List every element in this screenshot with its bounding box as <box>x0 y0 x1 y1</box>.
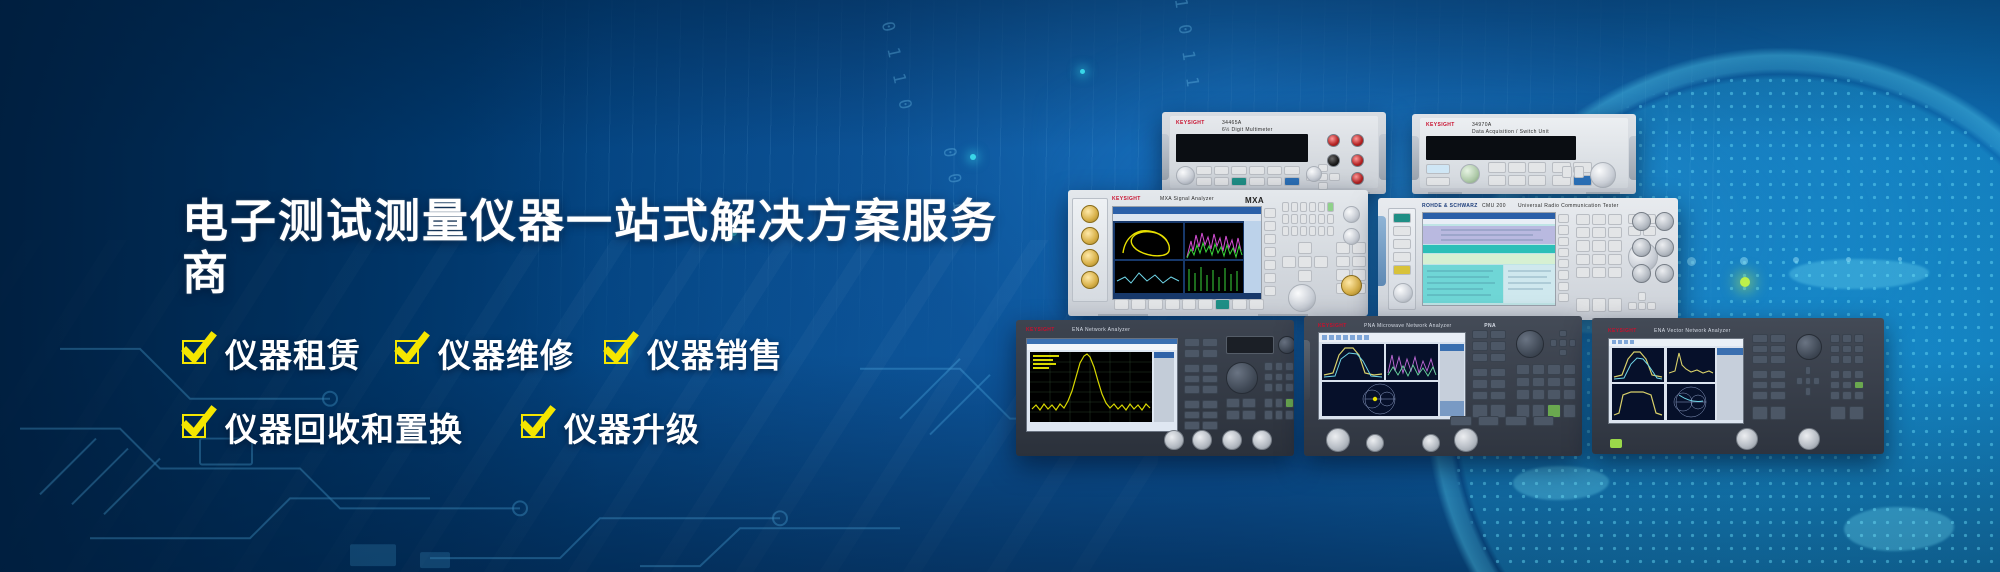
instrument-dmm-right: KEYSIGHT 34970A Data Acquisition / Switc… <box>1412 114 1636 194</box>
instrument-cluster: KEYSIGHT 34465A 6½ Digit Multimeter <box>1016 112 1916 512</box>
service-item-repair[interactable]: 仪器维修 <box>395 329 574 377</box>
model-label: 34465A <box>1222 120 1242 126</box>
model-label: 34970A <box>1472 122 1492 128</box>
model-desc: ENA Network Analyzer <box>1072 327 1130 333</box>
checkbox-checked-icon <box>604 338 634 368</box>
service-label: 仪器回收和置换 <box>225 403 463 451</box>
instrument-mxa: KEYSIGHT MXA Signal Analyzer MXA <box>1068 190 1368 316</box>
instrument-pna: KEYSIGHT PNA Microwave Network Analyzer … <box>1304 316 1582 456</box>
service-row: 仪器租赁 仪器维修 仪器销售 <box>182 329 1002 377</box>
brand-label: KEYSIGHT <box>1112 196 1141 202</box>
instrument-ena-left: KEYSIGHT ENA Network Analyzer <box>1016 320 1294 456</box>
model-desc: Data Acquisition / Switch Unit <box>1472 129 1549 135</box>
model-desc: MXA Signal Analyzer <box>1160 196 1214 202</box>
service-label: 仪器升级 <box>564 403 700 451</box>
brand-label: KEYSIGHT <box>1026 327 1055 333</box>
model-desc: 6½ Digit Multimeter <box>1222 127 1273 133</box>
checkbox-checked-icon <box>395 338 425 368</box>
model-badge: PNA <box>1484 323 1496 329</box>
instrument-cmu: ROHDE & SCHWARZ CMU 200 Universal Radio … <box>1378 198 1678 320</box>
brand-label: KEYSIGHT <box>1608 328 1637 334</box>
service-item-recycle[interactable]: 仪器回收和置换 <box>182 403 463 451</box>
brand-label: ROHDE & SCHWARZ <box>1422 203 1478 209</box>
service-label: 仪器租赁 <box>225 329 361 377</box>
brand-label: KEYSIGHT <box>1318 323 1347 329</box>
service-label: 仪器维修 <box>438 329 574 377</box>
brand-label: KEYSIGHT <box>1426 122 1455 128</box>
model-label: CMU 200 <box>1482 203 1506 209</box>
model-desc: ENA Vector Network Analyzer <box>1654 328 1731 334</box>
service-item-sales[interactable]: 仪器销售 <box>604 329 783 377</box>
page-title: 电子测试测量仪器一站式解决方案服务商 <box>182 196 1002 299</box>
model-desc: Universal Radio Communication Tester <box>1518 203 1619 209</box>
brand-label: KEYSIGHT <box>1176 120 1205 126</box>
service-label: 仪器销售 <box>647 329 783 377</box>
model-desc: PNA Microwave Network Analyzer <box>1364 323 1452 329</box>
checkbox-checked-icon <box>521 412 551 442</box>
banner-copy: 电子测试测量仪器一站式解决方案服务商 仪器租赁 仪器维修 <box>182 196 1002 477</box>
service-row: 仪器回收和置换 仪器升级 <box>182 403 1002 451</box>
model-badge: MXA <box>1245 196 1264 205</box>
spark-dot <box>1080 69 1085 74</box>
instrument-ena-right: KEYSIGHT ENA Vector Network Analyzer <box>1592 318 1884 454</box>
service-list: 仪器租赁 仪器维修 仪器销售 <box>182 329 1002 451</box>
service-item-rental[interactable]: 仪器租赁 <box>182 329 361 377</box>
checkbox-checked-icon <box>182 412 212 442</box>
checkbox-checked-icon <box>182 338 212 368</box>
service-item-upgrade[interactable]: 仪器升级 <box>521 403 700 451</box>
hero-banner: 0 1 1 0 0 0 1 0 1 0 1 1 <box>0 0 2000 572</box>
instrument-dmm-left: KEYSIGHT 34465A 6½ Digit Multimeter <box>1162 112 1386 194</box>
